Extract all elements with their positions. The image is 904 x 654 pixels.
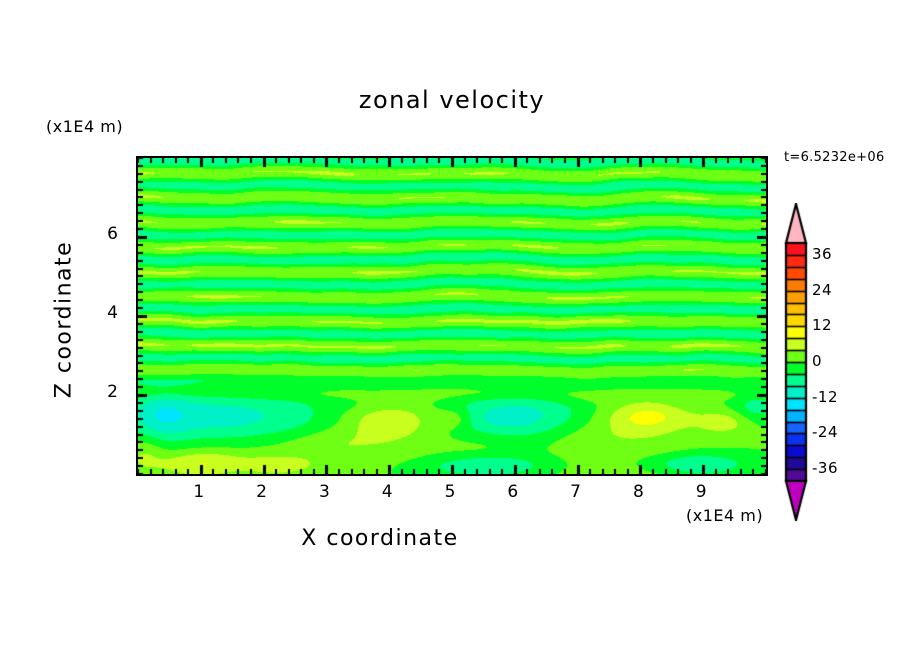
x-tick-label: 6 <box>493 482 533 502</box>
contour-field <box>138 158 766 474</box>
x-tick-label: 3 <box>304 482 344 502</box>
y-tick-label: 6 <box>92 224 118 244</box>
contour-plot-area <box>136 156 768 476</box>
y-tick-label: 4 <box>92 303 118 323</box>
colorbar-tick-label: 12 <box>812 316 832 334</box>
y-axis-unit-label: (x1E4 m) <box>46 117 123 136</box>
x-axis-unit-label: (x1E4 m) <box>686 506 763 525</box>
x-tick-label: 9 <box>681 482 721 502</box>
x-tick-label: 5 <box>430 482 470 502</box>
x-tick-label: 1 <box>179 482 219 502</box>
colorbar-tick-label: 36 <box>812 245 832 263</box>
chart-title: zonal velocity <box>0 86 904 114</box>
x-tick-label: 8 <box>618 482 658 502</box>
colorbar-tick-label: 0 <box>812 352 822 370</box>
x-tick-label: 4 <box>367 482 407 502</box>
x-axis-title: X coordinate <box>0 526 760 551</box>
colorbar-tick-label: -12 <box>812 388 838 406</box>
figure-canvas: zonal velocity (x1E4 m) t=6.5232e+06 123… <box>0 0 904 654</box>
colorbar-tick-label: -24 <box>812 423 838 441</box>
y-axis-title: Z coordinate <box>52 220 77 420</box>
x-tick-label: 7 <box>556 482 596 502</box>
x-tick-label: 2 <box>242 482 282 502</box>
colorbar-tick-label: 24 <box>812 281 832 299</box>
colorbar-tick-label: -36 <box>812 459 838 477</box>
timestamp-annotation: t=6.5232e+06 <box>784 150 885 165</box>
y-tick-label: 2 <box>92 382 118 402</box>
